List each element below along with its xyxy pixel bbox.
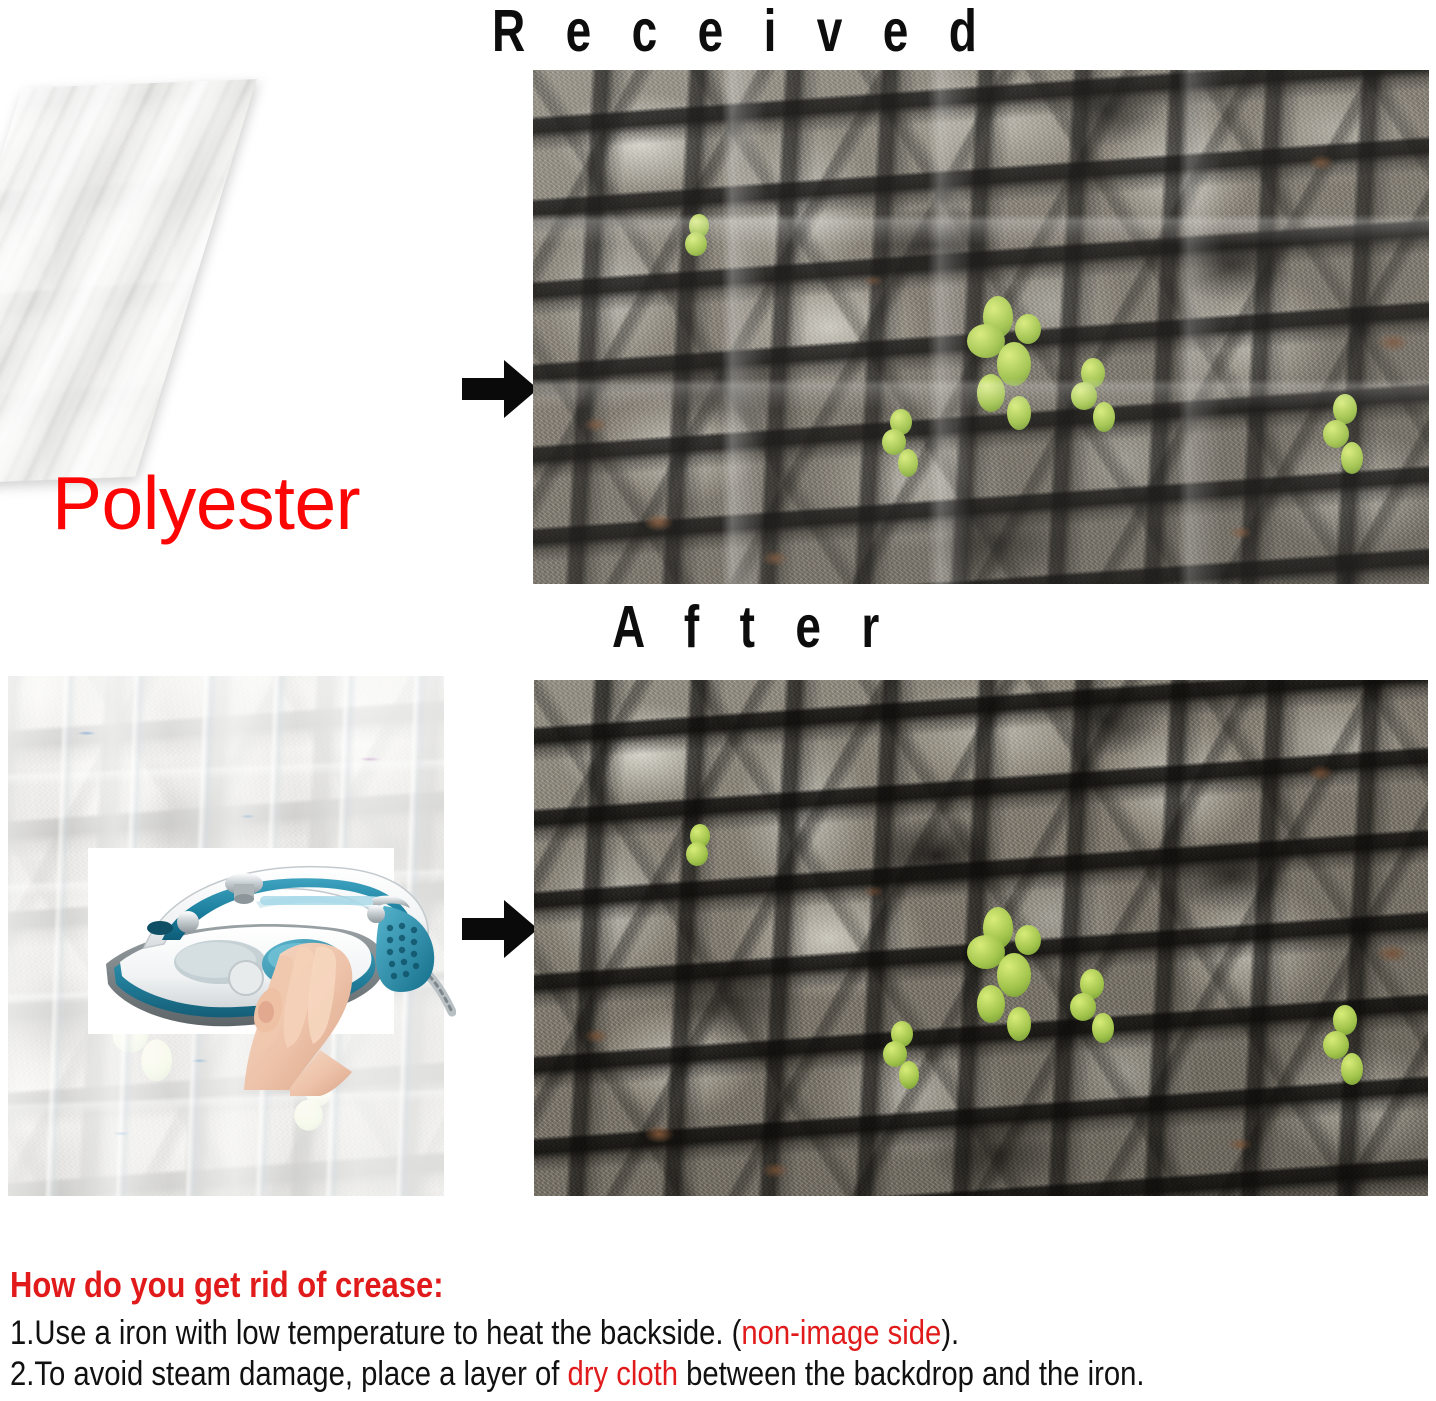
right-arrow-icon	[462, 360, 538, 418]
after-backdrop-photo	[534, 680, 1428, 1196]
vegetation-overlay	[534, 680, 1428, 1196]
care-instructions-block: How do you get rid of crease: 1.Use a ir…	[10, 1266, 1430, 1397]
right-arrow-icon	[462, 900, 538, 958]
folded-polyester-fabric-image	[0, 79, 257, 486]
instruction-1-part-1: 1.Use a iron with low temperature to hea…	[10, 1314, 741, 1352]
received-section-heading: R e c e i v e d	[492, 2, 991, 61]
received-backdrop-photo	[533, 70, 1429, 584]
after-section-heading: A f t e r	[612, 598, 893, 657]
fabric-sheen-overlay	[0, 79, 257, 486]
vegetation-overlay	[533, 70, 1429, 584]
instruction-2-highlight: dry cloth	[568, 1355, 679, 1393]
instruction-line-1: 1.Use a iron with low temperature to hea…	[10, 1315, 1231, 1351]
instruction-2-part-2: between the backdrop and the iron.	[678, 1355, 1145, 1393]
instruction-1-highlight: non-image side	[741, 1314, 941, 1352]
steam-iron-icon	[84, 836, 456, 1096]
instruction-2-part-1: 2.To avoid steam damage, place a layer o…	[10, 1355, 568, 1393]
polyester-material-label: Polyester	[52, 466, 360, 541]
instructions-heading: How do you get rid of crease:	[10, 1266, 1231, 1304]
instruction-1-part-2: ).	[941, 1314, 959, 1352]
instruction-line-2: 2.To avoid steam damage, place a layer o…	[10, 1356, 1231, 1392]
